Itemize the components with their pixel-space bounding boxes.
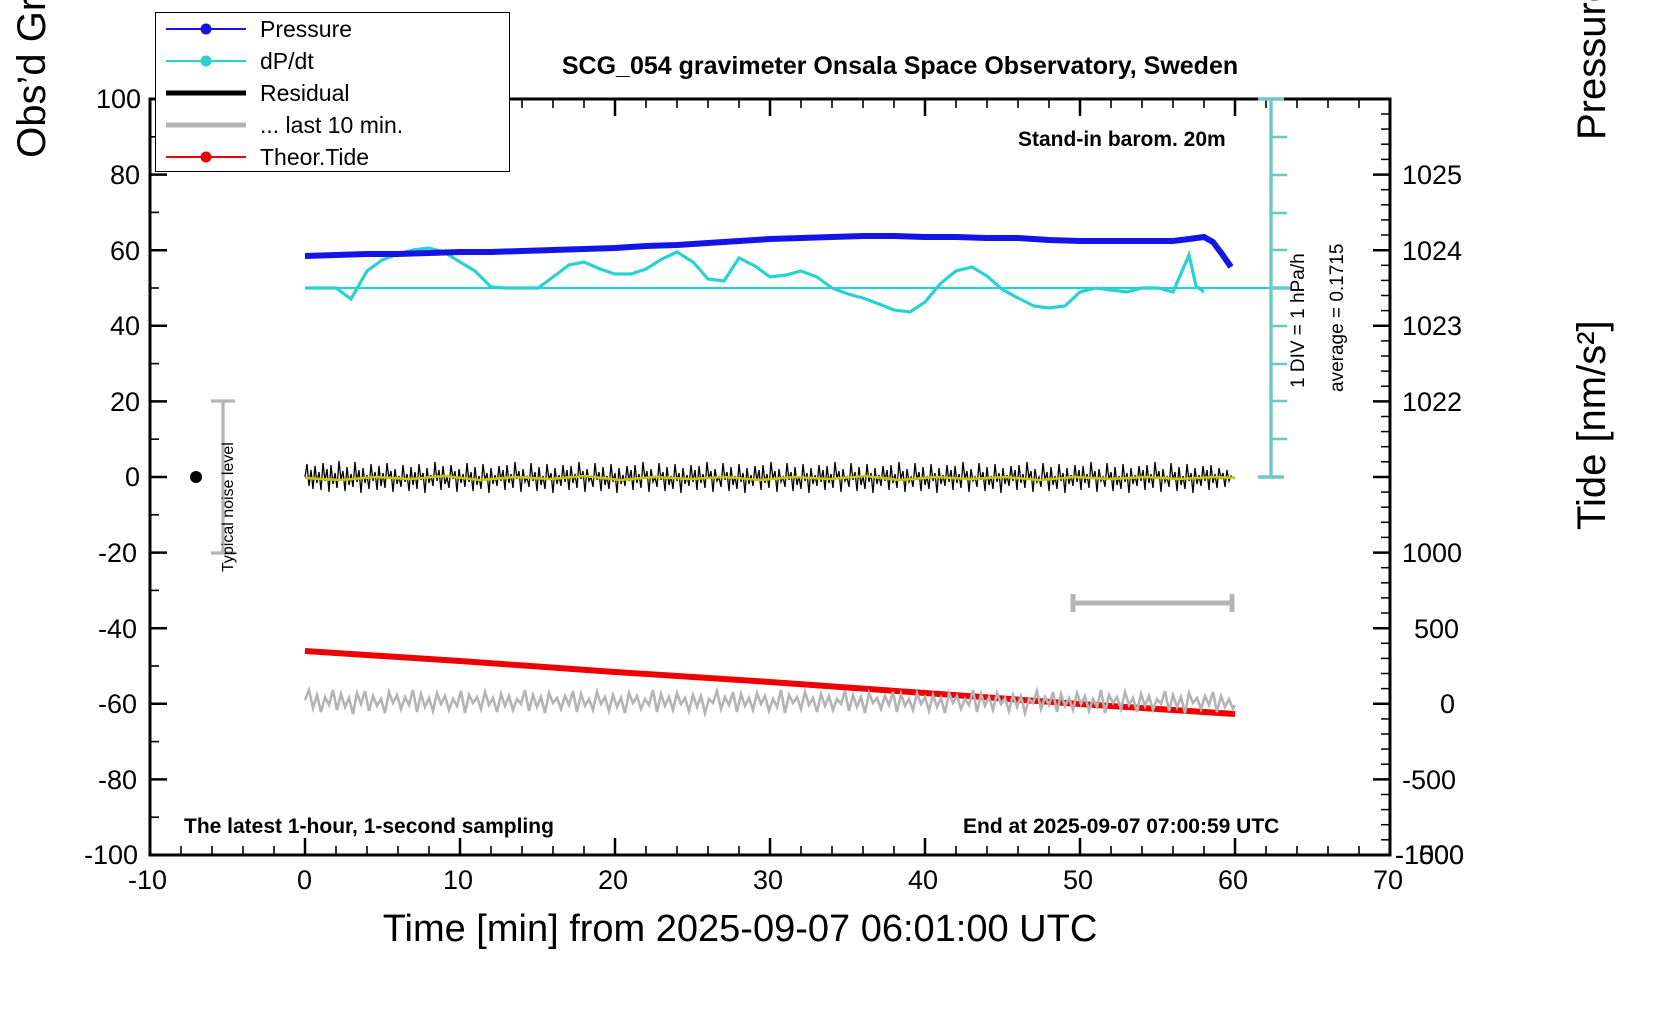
- ytick-label-m80: -80: [98, 765, 137, 796]
- ytick-label-0: 0: [125, 462, 140, 493]
- xtick-label-6: 50: [1063, 865, 1093, 896]
- xtick-label-4: 30: [753, 865, 783, 896]
- pressure-tick-1023: 1023: [1402, 311, 1462, 342]
- series-pressure: [305, 236, 1231, 267]
- legend-swatch-residual: [166, 84, 246, 102]
- last-10-min-marker: [1073, 594, 1232, 612]
- ytick-label-20: 20: [110, 387, 140, 418]
- ytick-label-m100: -100: [84, 840, 138, 871]
- series-dpdt: [305, 248, 1204, 312]
- ytick-label-40: 40: [110, 311, 140, 342]
- ytick-label-80: 80: [110, 160, 140, 191]
- pressure-tick-1024: 1024: [1402, 236, 1462, 267]
- legend-item-last10[interactable]: ... last 10 min.: [166, 109, 509, 141]
- x-axis-title: Time [min] from 2025-09-07 06:01:00 UTC: [0, 908, 1480, 951]
- tide-tick-m500: -500: [1402, 765, 1456, 796]
- xtick-label-5: 40: [908, 865, 938, 896]
- annotation-stand-in-barom: Stand-in barom. 20m: [1018, 128, 1226, 152]
- y-axis-title-tide: Tide [nm/s²]: [1570, 230, 1615, 530]
- legend-label-theor-tide: Theor.Tide: [260, 144, 369, 171]
- tide-tick-500: 500: [1414, 614, 1459, 645]
- annotation-end-time: End at 2025-09-07 07:00:59 UTC: [963, 815, 1279, 839]
- ytick-label-m20: -20: [98, 538, 137, 569]
- legend-item-dpdt[interactable]: dP/dt: [166, 45, 509, 77]
- pressure-tick-1025: 1025: [1402, 160, 1462, 191]
- legend-label-pressure: Pressure: [260, 16, 352, 43]
- right-axis-tide-major-ticks: [1373, 477, 1390, 855]
- tide-tick-bottom: -1500: [1395, 840, 1464, 871]
- legend-item-pressure[interactable]: Pressure: [166, 13, 509, 45]
- xtick-label-7: 60: [1218, 865, 1248, 896]
- tide-tick-1000: 1000: [1402, 538, 1462, 569]
- series-last-10-min: [305, 690, 1235, 714]
- annotation-average: average = 0.1715: [1327, 244, 1349, 392]
- legend-label-residual: Residual: [260, 80, 350, 107]
- legend-swatch-dpdt: [166, 52, 246, 70]
- tide-tick-0: 0: [1440, 689, 1455, 720]
- legend-swatch-theor-tide: [166, 148, 246, 166]
- pressure-tick-1022: 1022: [1402, 387, 1462, 418]
- y-axis-title-pressure: Pressure [hPa]: [1570, 0, 1615, 140]
- xtick-label-2: 10: [443, 865, 473, 896]
- ytick-label-m40: -40: [98, 614, 137, 645]
- xtick-label-3: 20: [598, 865, 628, 896]
- legend-swatch-pressure: [166, 20, 246, 38]
- legend-swatch-last10: [166, 116, 246, 134]
- chart-figure: -10 0 10 20 30 40 50 60 70 100 80 60 40 …: [0, 0, 1660, 1020]
- annotation-sampling-note: The latest 1-hour, 1-second sampling: [184, 815, 554, 839]
- annotation-div-scale: 1 DIV = 1 hPa/h: [1288, 253, 1310, 388]
- ytick-label-100: 100: [96, 84, 141, 115]
- legend: Pressure dP/dt Residual ... last 10 min.: [155, 12, 510, 172]
- xtick-label-1: 0: [297, 865, 312, 896]
- annotation-typical-noise: Typical noise level: [220, 442, 238, 572]
- legend-item-residual[interactable]: Residual: [166, 77, 509, 109]
- legend-item-theor-tide[interactable]: Theor.Tide: [166, 141, 509, 173]
- y-axis-title-left: Obs’d Gravity [nm/s²]: [10, 0, 55, 200]
- legend-label-last10: ... last 10 min.: [260, 112, 403, 139]
- legend-label-dpdt: dP/dt: [260, 48, 314, 75]
- typical-noise-point: [190, 471, 202, 483]
- plot-title: SCG_054 gravimeter Onsala Space Observat…: [430, 52, 1370, 81]
- ytick-label-60: 60: [110, 236, 140, 267]
- right-axis-pressure-major-ticks: [1373, 175, 1390, 402]
- ytick-label-m60: -60: [98, 689, 137, 720]
